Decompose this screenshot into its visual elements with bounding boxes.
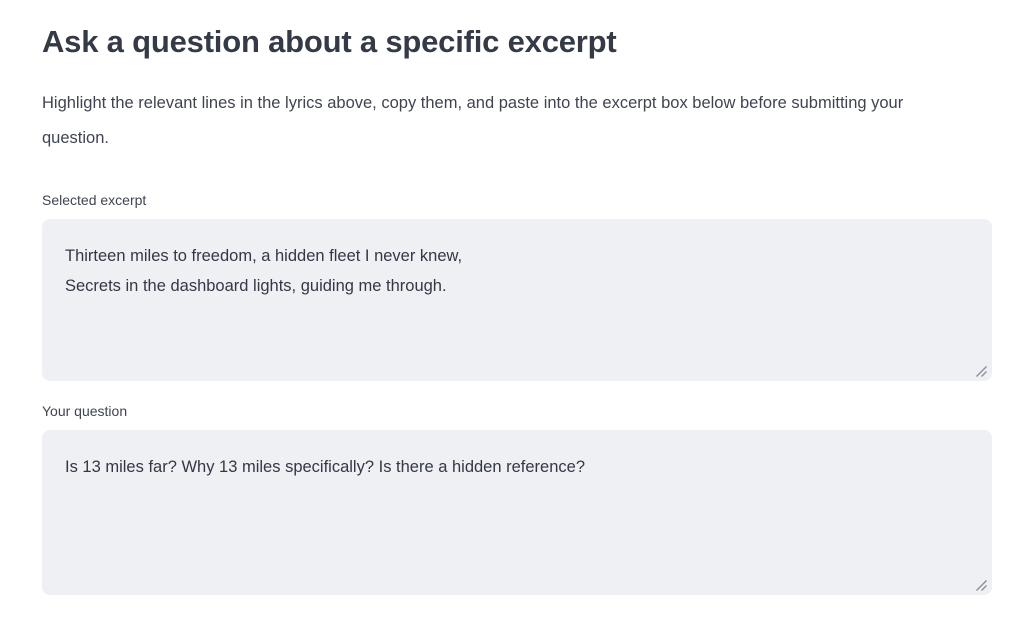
- page-description: Highlight the relevant lines in the lyri…: [42, 62, 972, 156]
- selected-excerpt-line-1: Thirteen miles to freedom, a hidden flee…: [65, 241, 968, 271]
- resize-grip-icon[interactable]: [972, 362, 988, 378]
- selected-excerpt-field-group: Selected excerpt Thirteen miles to freed…: [42, 156, 992, 381]
- your-question-line-1: Is 13 miles far? Why 13 miles specifical…: [65, 452, 968, 482]
- your-question-field-group: Your question Is 13 miles far? Why 13 mi…: [42, 381, 992, 595]
- page-title: Ask a question about a specific excerpt: [42, 0, 992, 62]
- resize-grip-icon[interactable]: [972, 576, 988, 592]
- selected-excerpt-label: Selected excerpt: [42, 190, 992, 210]
- your-question-input[interactable]: Is 13 miles far? Why 13 miles specifical…: [42, 430, 992, 595]
- ask-question-panel: Ask a question about a specific excerpt …: [0, 0, 1024, 618]
- selected-excerpt-input[interactable]: Thirteen miles to freedom, a hidden flee…: [42, 219, 992, 381]
- your-question-label: Your question: [42, 401, 992, 421]
- selected-excerpt-line-2: Secrets in the dashboard lights, guiding…: [65, 271, 968, 301]
